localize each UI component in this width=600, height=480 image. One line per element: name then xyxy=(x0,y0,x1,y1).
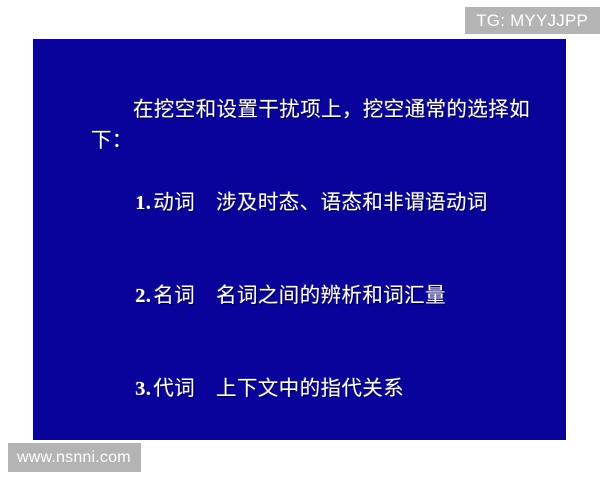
list-item-term: 名词 xyxy=(153,285,195,307)
watermark-bottom: www.nsnni.com xyxy=(8,443,141,472)
list-item-number: 2. xyxy=(135,285,151,307)
list-item-description: 涉及时态、语态和非谓语动词 xyxy=(216,192,488,214)
list-item-description: 名词之间的辨析和词汇量 xyxy=(216,285,446,307)
watermark-top: TG: MYYJJPP xyxy=(465,7,600,34)
list-item-number: 1. xyxy=(135,192,151,214)
list-item: 3.代词 上下文中的指代关系 xyxy=(91,343,556,436)
list-item-term: 代词 xyxy=(153,378,195,400)
list-item-gap xyxy=(195,378,216,400)
list-item: 2.名词 名词之间的辨析和词汇量 xyxy=(91,250,556,343)
numbered-list: 1.动词 涉及时态、语态和非谓语动词 2.名词 名词之间的辨析和词汇量 3.代词… xyxy=(91,157,556,440)
slide-content: 在挖空和设置干扰项上，挖空通常的选择如下： 1.动词 涉及时态、语态和非谓语动词… xyxy=(33,39,566,440)
watermark-top-label: TG: MYYJJPP xyxy=(476,12,588,29)
list-item-number: 3. xyxy=(135,378,151,400)
list-item-term: 动词 xyxy=(153,192,195,214)
list-item: 1.动词 涉及时态、语态和非谓语动词 xyxy=(91,157,556,250)
list-item-description: 上下文中的指代关系 xyxy=(216,378,404,400)
intro-paragraph: 在挖空和设置干扰项上，挖空通常的选择如下： xyxy=(91,95,556,157)
list-item-gap xyxy=(195,285,216,307)
list-item-gap xyxy=(195,192,216,214)
slide-panel: 在挖空和设置干扰项上，挖空通常的选择如下： 1.动词 涉及时态、语态和非谓语动词… xyxy=(33,39,566,440)
watermark-bottom-label: www.nsnni.com xyxy=(17,450,131,466)
list-item: 4.介词 通常考查固定搭配 xyxy=(91,436,556,440)
